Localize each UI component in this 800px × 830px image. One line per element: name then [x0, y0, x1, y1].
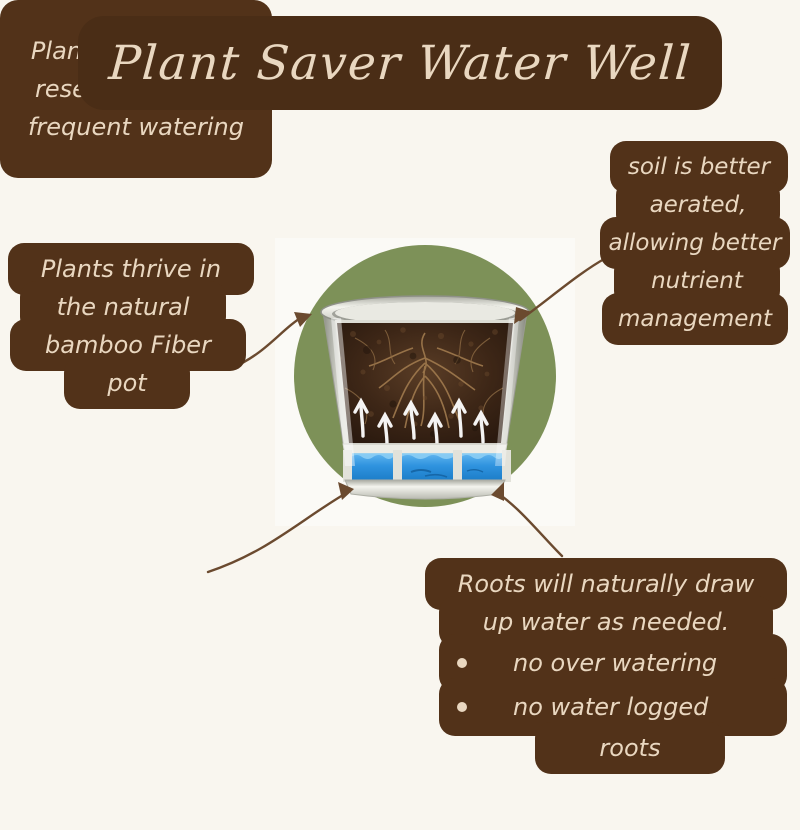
callout-line: frequent watering [28, 113, 244, 141]
infographic-canvas: Plant Saver Water Well [0, 0, 800, 830]
bullet-label: no over watering [513, 649, 717, 677]
water-reservoir [343, 450, 511, 482]
bullet-label: no water logged [513, 693, 708, 721]
pot-cross-section-illustration [275, 238, 575, 526]
bullet-dot-icon [457, 658, 467, 668]
bullet-dot-icon [457, 702, 467, 712]
plants-thrive-callout[interactable]: Plants thrive in the natural bamboo Fibe… [8, 243, 254, 409]
callout-line: pot [64, 357, 190, 409]
soil-aeration-callout[interactable]: soil is better aerated, allowing better … [600, 141, 790, 345]
roots-draw-water-callout[interactable]: Roots will naturally draw up water as ne… [425, 558, 787, 774]
callout-line: roots [535, 722, 725, 774]
title-banner: Plant Saver Water Well [78, 16, 722, 110]
callout-line: management [602, 293, 788, 345]
page-title: Plant Saver Water Well [107, 40, 693, 87]
product-image-panel [275, 238, 575, 526]
